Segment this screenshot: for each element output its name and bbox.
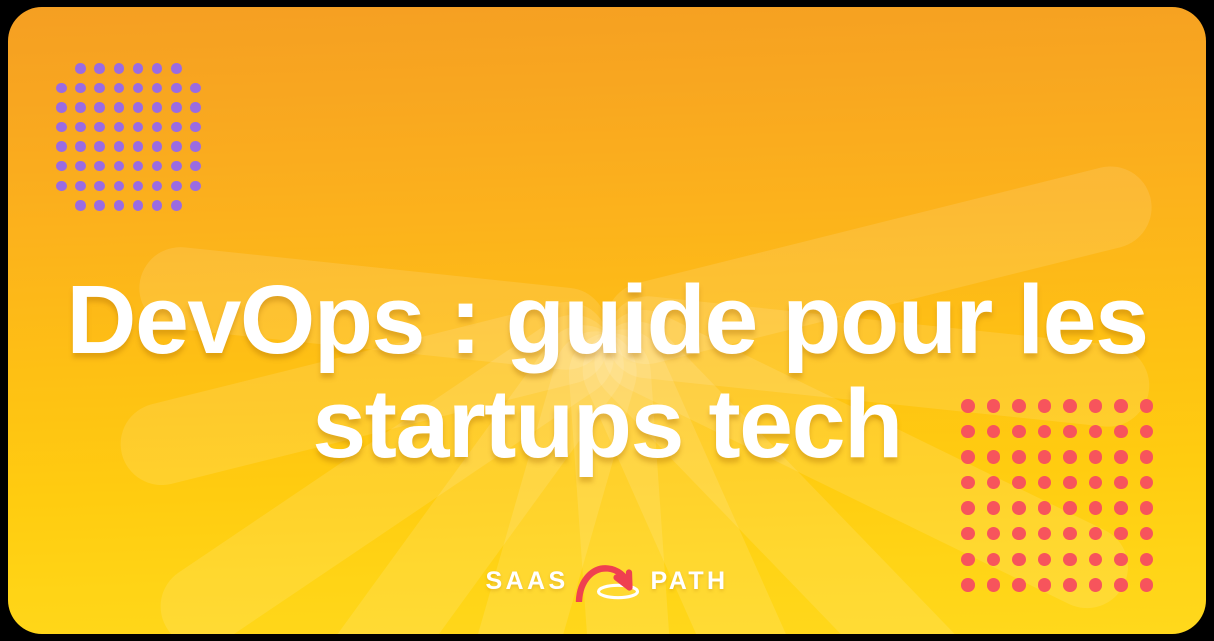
decorative-dot [171, 141, 182, 152]
decorative-dot [133, 102, 144, 113]
decorative-dot [94, 102, 105, 113]
decorative-dot [152, 83, 163, 94]
decorative-dot [1140, 476, 1154, 490]
decorative-dot [75, 63, 86, 74]
decorative-dot [171, 83, 182, 94]
decorative-dot [94, 181, 105, 192]
decorative-dot [152, 122, 163, 133]
decorative-dot [152, 102, 163, 113]
logo-word-saas: SAAS [485, 569, 568, 594]
decorative-dot [987, 501, 1001, 515]
decorative-dot [171, 63, 182, 74]
decorative-dot [1038, 476, 1052, 490]
decorative-dot [961, 501, 975, 515]
decorative-dot [94, 161, 105, 172]
decorative-dot [152, 63, 163, 74]
decorative-dot [1012, 527, 1026, 541]
decorative-dot [75, 200, 86, 211]
decorative-dot [56, 122, 67, 133]
social-share-banner-card: DevOps : guide pour les startups tech SA… [8, 7, 1206, 634]
decorative-dot [1114, 476, 1128, 490]
decorative-dot [1012, 476, 1026, 490]
decorative-dot [56, 102, 67, 113]
decorative-dot [190, 122, 201, 133]
decorative-dot [75, 161, 86, 172]
decorative-dot [114, 200, 125, 211]
decorative-dot [1063, 501, 1077, 515]
decorative-dot [56, 141, 67, 152]
decorative-dot [56, 161, 67, 172]
decorative-dot [171, 200, 182, 211]
dot-grid-circle-icon [56, 63, 210, 220]
decorative-dot [1038, 501, 1052, 515]
decorative-dot [114, 102, 125, 113]
decorative-dot [190, 181, 201, 192]
decorative-dot [1114, 501, 1128, 515]
decorative-dot [987, 527, 1001, 541]
decorative-dot [133, 200, 144, 211]
decorative-dot [1089, 527, 1103, 541]
decorative-dot [1089, 501, 1103, 515]
decorative-dot [56, 181, 67, 192]
decorative-dot [171, 161, 182, 172]
decorative-dot [133, 122, 144, 133]
decorative-dot [1089, 476, 1103, 490]
decorative-dot [94, 141, 105, 152]
decorative-dot [1063, 527, 1077, 541]
page-title: DevOps : guide pour les startups tech [8, 268, 1206, 476]
decorative-dot [56, 83, 67, 94]
decorative-dot [1114, 527, 1128, 541]
decorative-dot [171, 181, 182, 192]
decorative-dot [94, 200, 105, 211]
decorative-dot [94, 122, 105, 133]
decorative-dot [987, 476, 1001, 490]
decorative-dot [1012, 501, 1026, 515]
decorative-dot [75, 181, 86, 192]
decorative-dot [171, 122, 182, 133]
decorative-dot [114, 122, 125, 133]
decorative-dot [171, 102, 182, 113]
decorative-dot [133, 63, 144, 74]
decorative-dot [961, 527, 975, 541]
saaspath-logo[interactable]: SAAS PATH [8, 560, 1206, 602]
decorative-dot [133, 83, 144, 94]
decorative-dot [152, 141, 163, 152]
decorative-dot [114, 181, 125, 192]
decorative-dot [75, 102, 86, 113]
decorative-dot [114, 63, 125, 74]
decorative-dot [75, 141, 86, 152]
decorative-dot [1063, 476, 1077, 490]
decorative-dot [133, 141, 144, 152]
decorative-dot [190, 102, 201, 113]
decorative-dot [114, 161, 125, 172]
decorative-dot [75, 83, 86, 94]
decorative-dot [114, 141, 125, 152]
logo-word-path: PATH [651, 569, 729, 594]
decorative-dot [190, 141, 201, 152]
decorative-dot [94, 63, 105, 74]
decorative-dot [1038, 527, 1052, 541]
banner-stage: DevOps : guide pour les startups tech SA… [0, 0, 1214, 641]
decorative-dot [152, 161, 163, 172]
decorative-dot [152, 200, 163, 211]
decorative-dot [75, 122, 86, 133]
decorative-dot [190, 83, 201, 94]
decorative-dot [1140, 527, 1154, 541]
decorative-dot [1140, 501, 1154, 515]
decorative-dot [961, 476, 975, 490]
decorative-dot [94, 83, 105, 94]
decorative-dot [114, 83, 125, 94]
decorative-dot [133, 181, 144, 192]
decorative-dot [190, 161, 201, 172]
curved-arrow-into-ellipse-icon [575, 560, 649, 602]
decorative-dot [152, 181, 163, 192]
decorative-dot [133, 161, 144, 172]
